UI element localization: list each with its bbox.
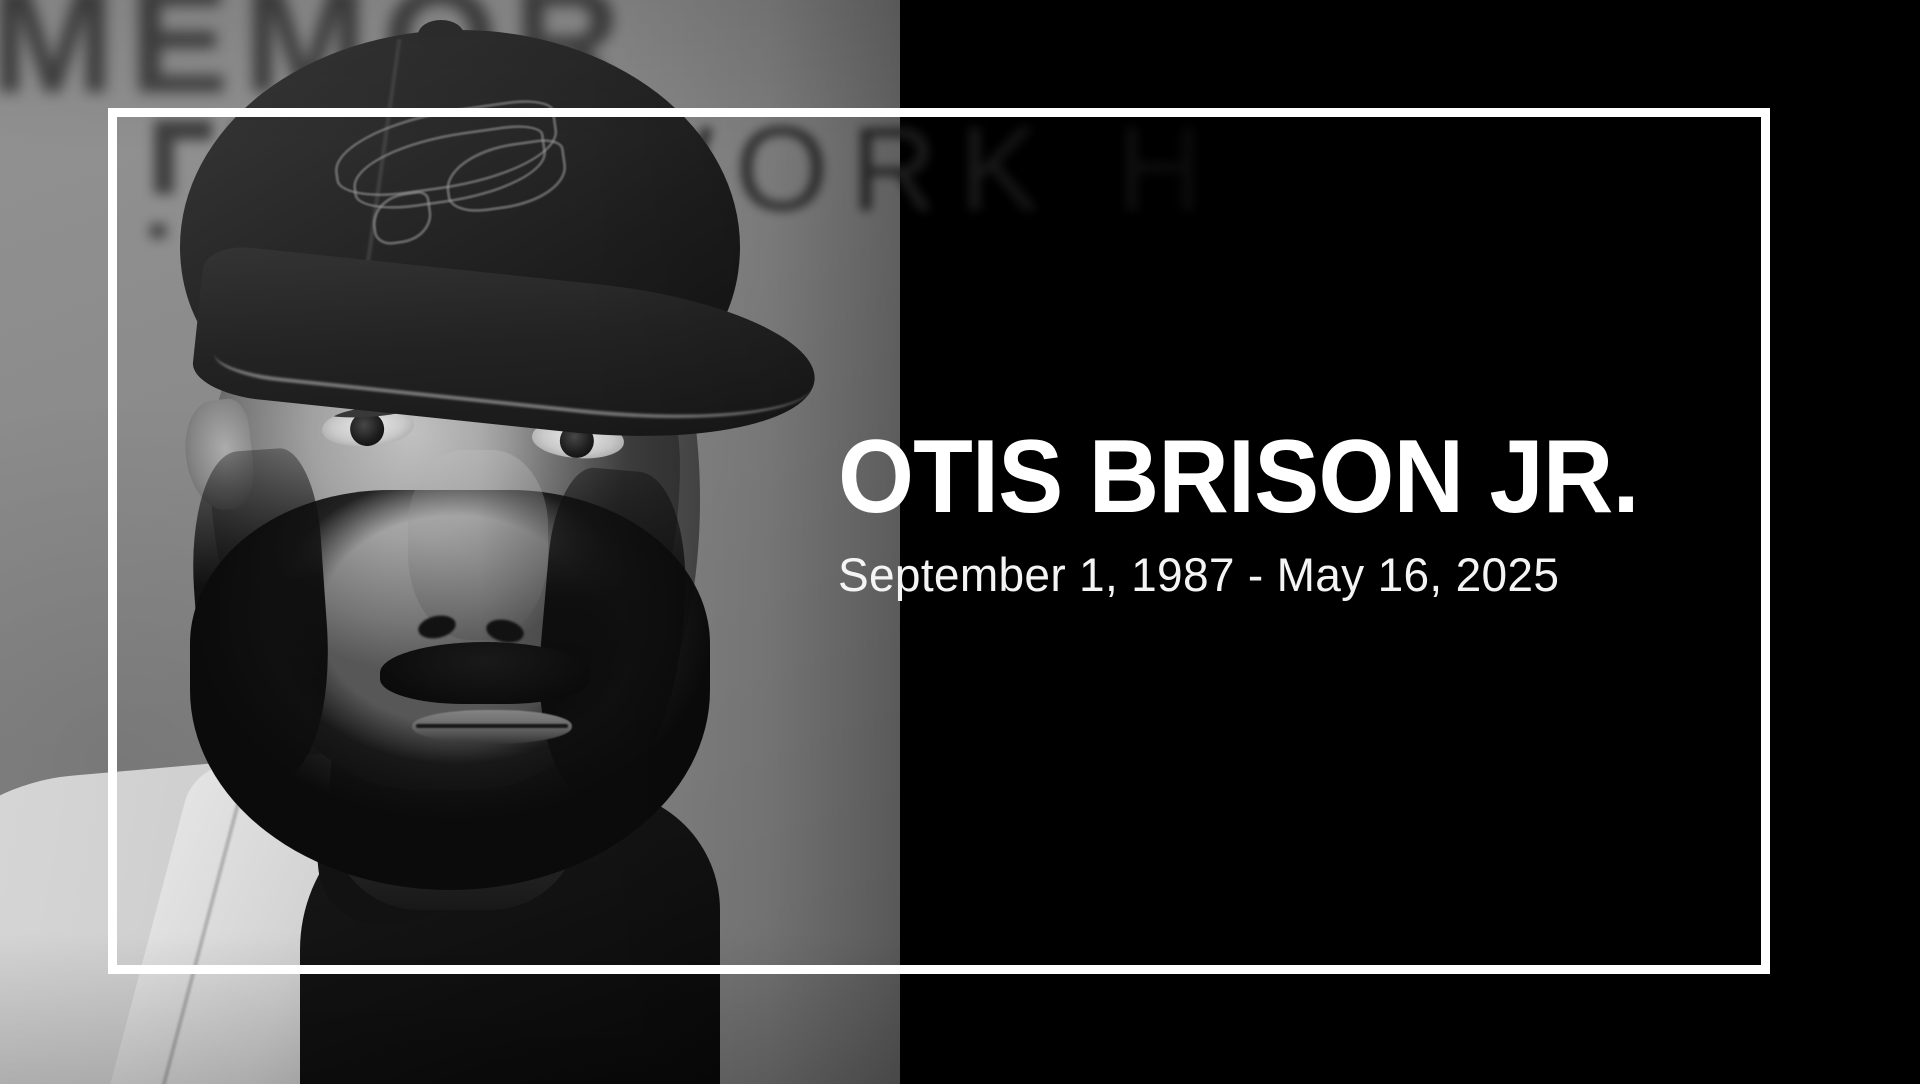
- memorial-graphic: MEMOR WORK H: [0, 0, 1920, 1084]
- deceased-dates: September 1, 1987 - May 16, 2025: [838, 549, 1700, 601]
- deceased-name: OTIS BRISON JR.: [838, 425, 1665, 529]
- memorial-text-block: OTIS BRISON JR. September 1, 1987 - May …: [838, 425, 1718, 601]
